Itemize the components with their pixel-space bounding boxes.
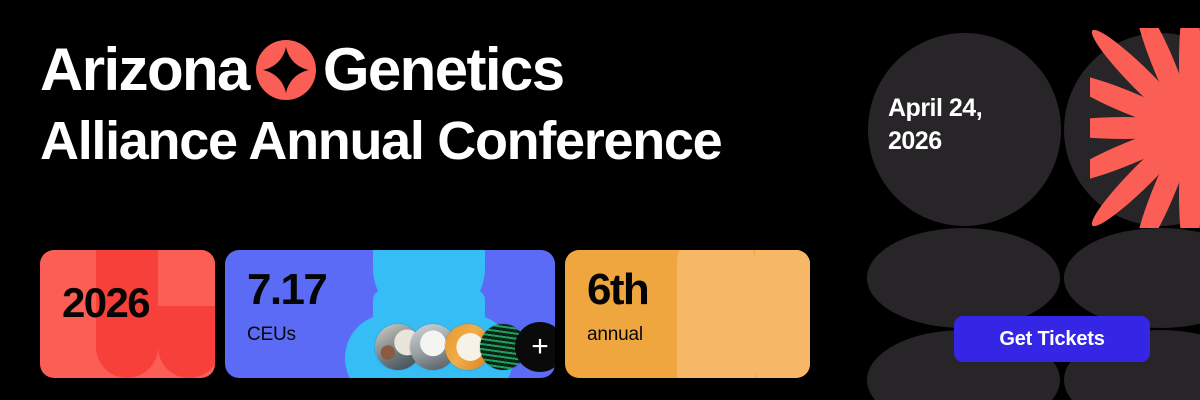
stat-card-annual: 6th annual xyxy=(565,250,810,378)
event-banner: Arizona Genetics Alliance Annual Confere… xyxy=(0,0,1200,400)
diamond-in-circle-icon xyxy=(255,39,317,101)
plus-more-icon[interactable]: + xyxy=(515,322,555,372)
flower-burst-icon xyxy=(1090,28,1200,228)
stat-card-text: 2026 xyxy=(40,250,215,324)
title-block: Arizona Genetics Alliance Annual Confere… xyxy=(40,36,820,172)
get-tickets-button[interactable]: Get Tickets xyxy=(954,316,1150,362)
stat-value-ceus: 7.17 xyxy=(247,268,555,312)
title-line-primary: Arizona Genetics xyxy=(40,36,820,104)
banner-left-content: Arizona Genetics Alliance Annual Confere… xyxy=(0,0,840,400)
event-date: April 24, 2026 xyxy=(888,92,1038,158)
stat-card-text: 6th annual xyxy=(565,250,810,346)
speaker-thumbnail-group[interactable]: + xyxy=(375,322,555,372)
stat-value-year: 2026 xyxy=(62,268,215,324)
banner-subtitle: Alliance Annual Conference xyxy=(40,110,820,172)
stat-cards-row: 2026 7.17 CEUs + xyxy=(40,250,810,378)
title-word-genetics: Genetics xyxy=(323,38,564,102)
stat-card-ceus: 7.17 CEUs + xyxy=(225,250,555,378)
collage-ellipse xyxy=(1064,228,1200,328)
stat-value-annual: 6th xyxy=(587,268,810,312)
banner-right-collage: April 24, 2026 xyxy=(840,0,1200,400)
title-word-arizona: Arizona xyxy=(40,38,249,102)
stat-card-year: 2026 xyxy=(40,250,215,378)
collage-ellipse xyxy=(867,228,1060,328)
stat-label-annual: annual xyxy=(587,324,810,346)
